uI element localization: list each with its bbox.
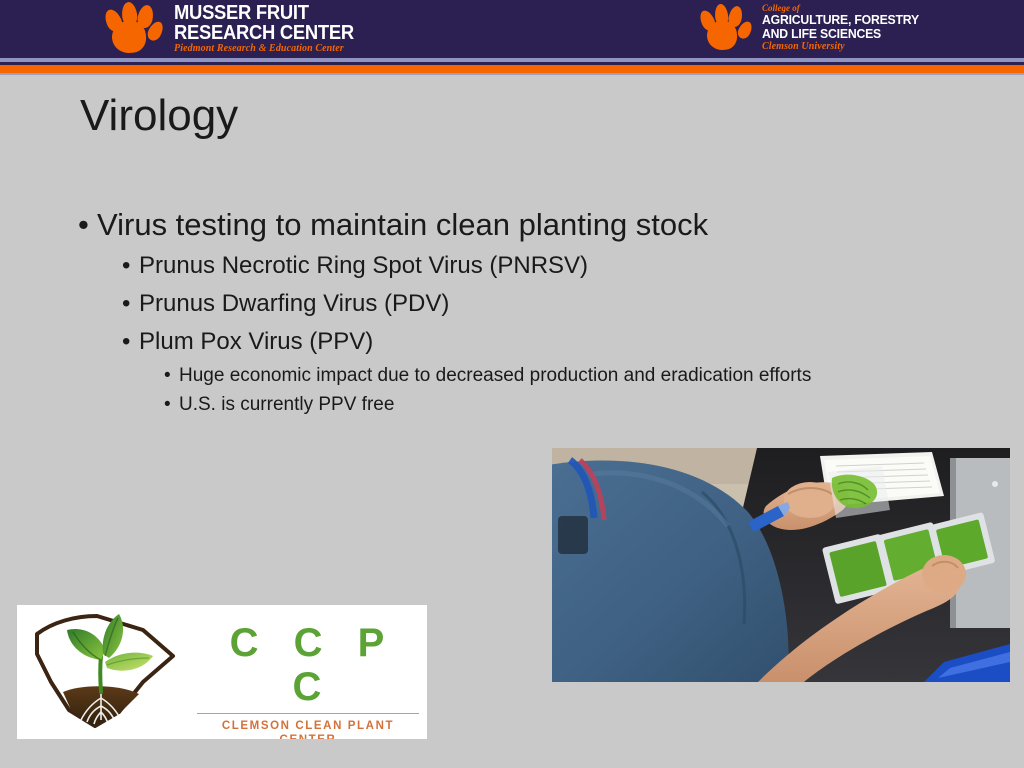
ccpc-acronym: C C P C	[197, 621, 419, 709]
bullet-icon: •	[122, 286, 139, 322]
musser-logo-subtitle: Piedmont Research & Education Center	[174, 43, 370, 55]
lab-photo-illustration	[552, 448, 1010, 682]
ccpc-divider	[197, 713, 419, 714]
bullet-icon: •	[164, 391, 179, 419]
list-item: • Prunus Dwarfing Virus (PDV)	[122, 286, 908, 322]
list-item: • Virus testing to maintain clean planti…	[78, 204, 908, 246]
ccpc-wordmark: C C P C CLEMSON CLEAN PLANT CENTER start…	[197, 621, 419, 739]
tiger-paw-icon	[700, 2, 754, 52]
bullet-icon: •	[78, 204, 97, 246]
header-banner: MUSSER FRUIT RESEARCH CENTER Piedmont Re…	[0, 0, 1024, 58]
cafls-logo-line1: AGRICULTURE, FORESTRY	[762, 13, 919, 27]
list-item-label: Prunus Necrotic Ring Spot Virus (PNRSV)	[139, 248, 908, 284]
musser-logo-line1: MUSSER FRUIT	[174, 3, 354, 23]
list-item-label: Plum Pox Virus (PPV)	[139, 324, 908, 360]
list-item: • Plum Pox Virus (PPV)	[122, 324, 908, 360]
south-carolina-seedling-icon	[23, 608, 191, 736]
list-item: • Prunus Necrotic Ring Spot Virus (PNRSV…	[122, 248, 908, 284]
musser-logo: MUSSER FRUIT RESEARCH CENTER Piedmont Re…	[104, 1, 370, 55]
cafls-logo: College of AGRICULTURE, FORESTRY AND LIF…	[700, 1, 929, 53]
list-item-label: Prunus Dwarfing Virus (PDV)	[139, 286, 908, 322]
header-stripe-gray	[0, 73, 1024, 75]
bullet-icon: •	[122, 248, 139, 284]
list-item-label: Huge economic impact due to decreased pr…	[179, 362, 849, 390]
list-item-label: Virus testing to maintain clean planting…	[97, 204, 908, 246]
bullet-icon: •	[122, 324, 139, 360]
list-item: • Huge economic impact due to decreased …	[164, 362, 908, 390]
ccpc-logo: C C P C CLEMSON CLEAN PLANT CENTER start…	[17, 605, 427, 739]
lab-photo	[552, 448, 1010, 682]
cafls-logo-subtitle: Clemson University	[762, 41, 929, 53]
list-item-label: U.S. is currently PPV free	[179, 391, 849, 419]
bullet-icon: •	[164, 362, 179, 390]
list-item: • U.S. is currently PPV free	[164, 391, 908, 419]
tiger-paw-icon	[104, 1, 166, 55]
ccpc-full-name: CLEMSON CLEAN PLANT CENTER	[197, 719, 419, 739]
bullet-list: • Virus testing to maintain clean planti…	[78, 204, 908, 420]
page-title: Virology	[80, 90, 238, 142]
musser-logo-line2: RESEARCH CENTER	[174, 23, 354, 43]
header-stripe-orange	[0, 65, 1024, 73]
cafls-logo-line2: AND LIFE SCIENCES	[762, 27, 919, 41]
